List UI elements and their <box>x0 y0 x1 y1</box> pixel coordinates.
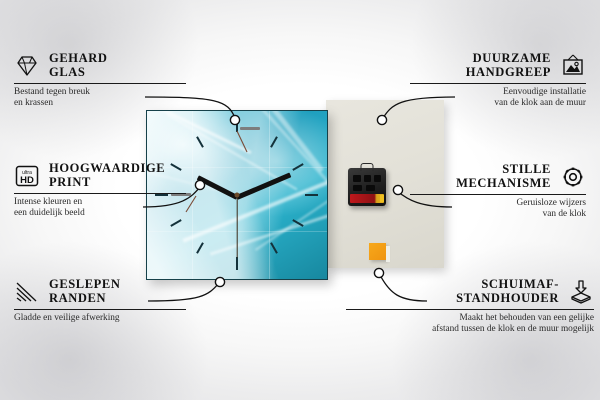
clock-tick <box>196 136 204 147</box>
feature-title: SCHUIMAF- STANDHOUDER <box>456 278 559 305</box>
feature-rule <box>346 309 594 310</box>
clock-tick <box>270 242 278 253</box>
feature-geslepen-randen: GESLEPEN RANDEN Gladde en veilige afwerk… <box>14 278 200 324</box>
feature-rule <box>14 309 186 310</box>
press-pad-icon <box>568 280 594 304</box>
mechanism-slot <box>366 185 375 191</box>
picture-frame-hook-icon <box>560 54 586 78</box>
clock-hand-second <box>236 196 237 258</box>
battery-terminal <box>380 195 384 202</box>
feature-title: DUURZAME HANDGREEP <box>466 52 551 79</box>
clock-mechanism-box <box>348 168 386 206</box>
feature-hoogwaardige-print: ultra HD HOOGWAARDIGE PRINT Intense kleu… <box>14 162 200 219</box>
feature-description: Eenvoudige installatie van de klok aan d… <box>396 87 586 109</box>
ultra-hd-icon: ultra HD <box>14 164 40 188</box>
feature-header: STILLE MECHANISME <box>396 163 586 190</box>
feature-header: ultra HD HOOGWAARDIGE PRINT <box>14 162 200 189</box>
clock-tick <box>196 242 204 253</box>
mechanism-slot <box>353 185 362 191</box>
feature-stille-mechanisme: STILLE MECHANISME Geruisloze wijzers van… <box>396 163 586 220</box>
feature-rule <box>14 83 186 84</box>
feature-title: GESLEPEN RANDEN <box>49 278 121 305</box>
feature-header: GEHARD GLAS <box>14 52 200 79</box>
feature-header: GESLEPEN RANDEN <box>14 278 200 305</box>
infographic-canvas: GEHARD GLAS Bestand tegen breuk en krass… <box>0 0 600 400</box>
clock-center-pin <box>235 193 240 198</box>
feature-title: STILLE MECHANISME <box>456 163 551 190</box>
clock-tick <box>236 119 238 132</box>
feature-title: GEHARD GLAS <box>49 52 107 79</box>
feature-duurzame-handgreep: DUURZAME HANDGREEP Eenvoudige installati… <box>396 52 586 109</box>
clock-hand-hour <box>197 175 238 199</box>
clock-tick <box>170 219 181 227</box>
feature-header: SCHUIMAF- STANDHOUDER <box>332 278 594 305</box>
svg-text:HD: HD <box>20 175 34 186</box>
clock-tick <box>305 194 318 196</box>
mechanism-slot <box>353 175 361 182</box>
feature-rule <box>410 83 586 84</box>
feature-description: Intense kleuren en een duidelijk beeld <box>14 197 200 219</box>
mechanism-slot <box>374 175 381 182</box>
feature-schuimafstandhouder: SCHUIMAF- STANDHOUDER Maakt het behouden… <box>332 278 594 335</box>
feature-description: Maakt het behouden van een gelijke afsta… <box>332 313 594 335</box>
feature-gehard-glas: GEHARD GLAS Bestand tegen breuk en krass… <box>14 52 200 109</box>
clock-tick <box>236 257 238 270</box>
feature-description: Bestand tegen breuk en krassen <box>14 87 200 109</box>
feature-rule <box>14 193 186 194</box>
callout-marker-dash <box>240 127 260 130</box>
gear-icon <box>560 165 586 189</box>
clock-tick <box>270 136 278 147</box>
foam-pad-side <box>386 246 390 262</box>
beveled-edge-icon <box>14 280 40 304</box>
mechanism-slot <box>364 175 371 182</box>
diamond-icon <box>14 54 40 78</box>
feature-header: DUURZAME HANDGREEP <box>396 52 586 79</box>
feature-title: HOOGWAARDIGE PRINT <box>49 162 165 189</box>
foam-spacer-pad <box>369 243 386 260</box>
battery <box>350 194 384 203</box>
hanging-hook-icon <box>361 163 374 171</box>
feature-description: Gladde en veilige afwerking <box>14 313 200 324</box>
feature-rule <box>410 194 586 195</box>
feature-description: Geruisloze wijzers van de klok <box>396 198 586 220</box>
clock-hand-minute <box>236 173 291 200</box>
